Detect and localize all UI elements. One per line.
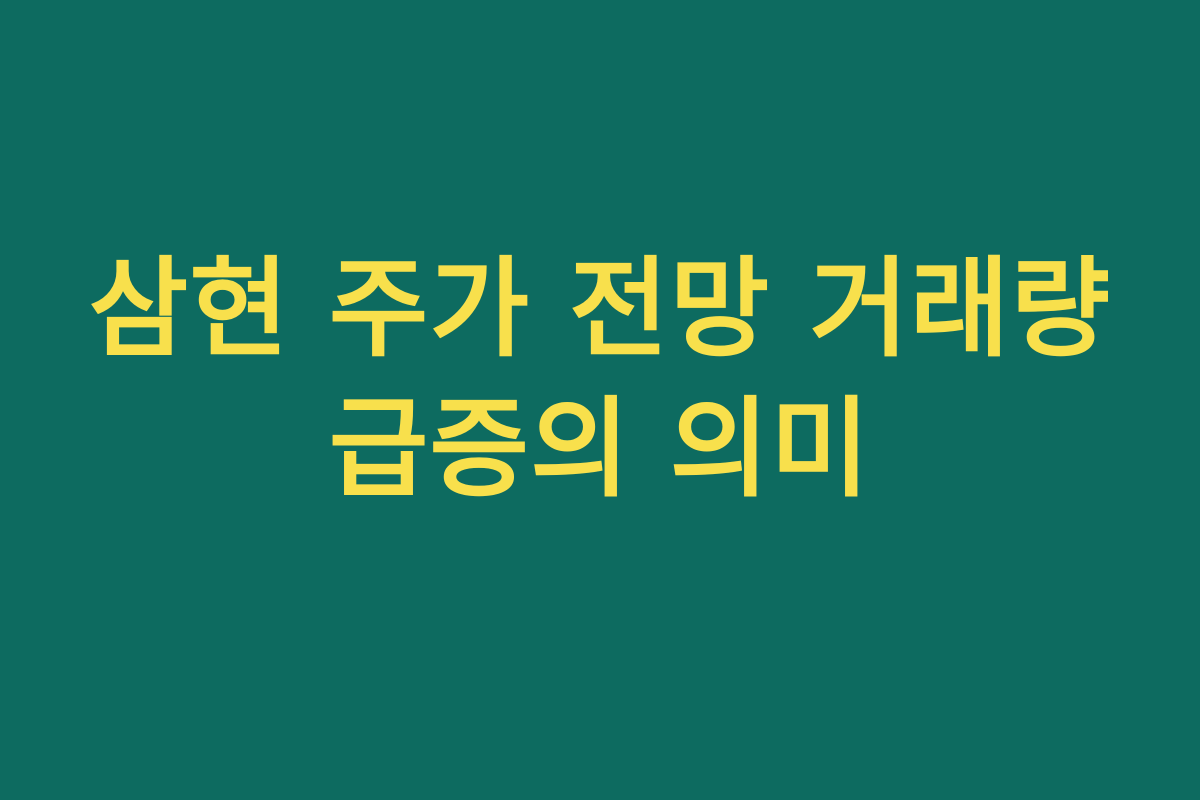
title-line-2: 급증의 의미 — [329, 380, 871, 520]
title-line-1: 삼현 주가 전망 거래량 — [89, 240, 1112, 380]
poster-canvas: 삼현 주가 전망 거래량 급증의 의미 — [0, 0, 1200, 800]
title-block: 삼현 주가 전망 거래량 급증의 의미 — [0, 240, 1200, 521]
